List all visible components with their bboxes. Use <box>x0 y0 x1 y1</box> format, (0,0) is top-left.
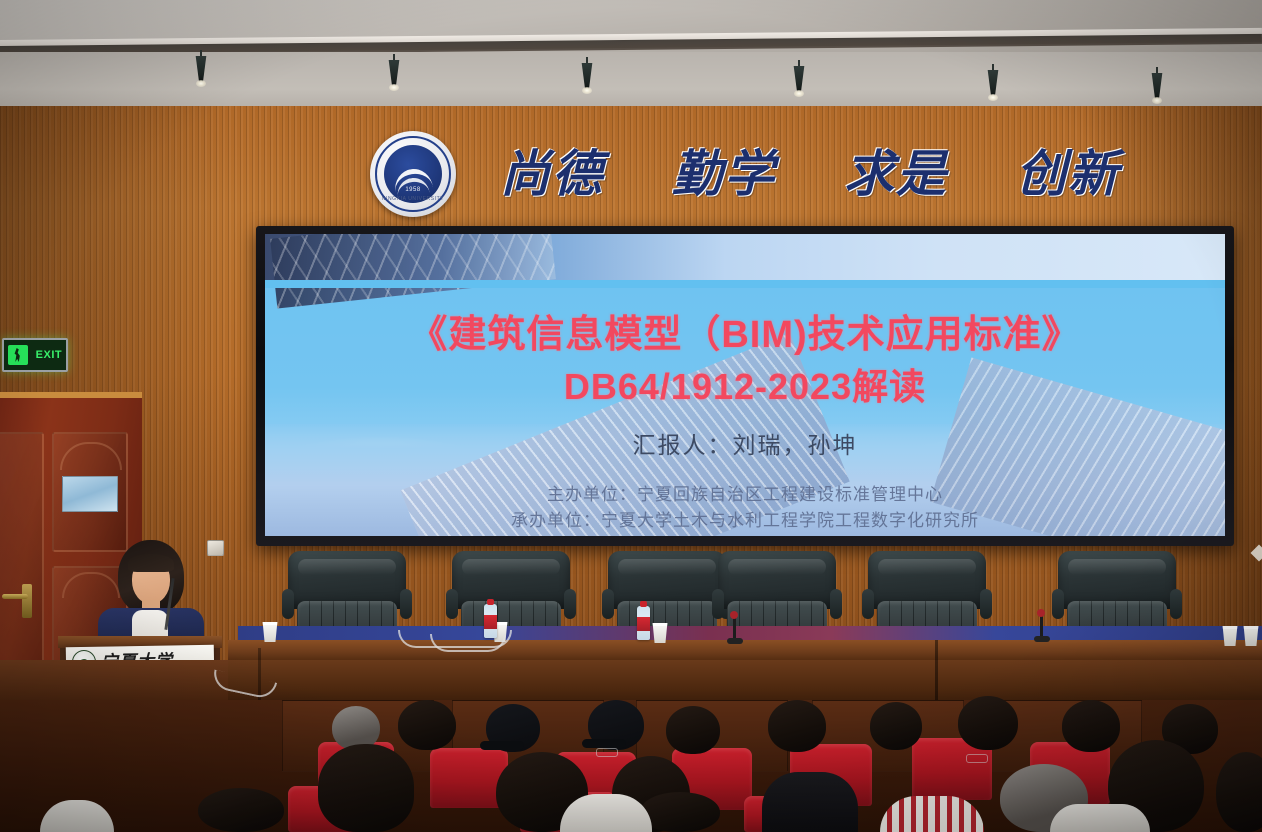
paper-cup <box>652 623 668 643</box>
audience-head <box>1062 700 1120 752</box>
track-light-icon <box>192 56 210 90</box>
audience-head <box>318 744 414 832</box>
audience-shoulders <box>880 796 984 832</box>
track-light-icon <box>385 60 403 94</box>
slide-steel-structure-graphic <box>265 234 1225 282</box>
running-person-icon <box>8 345 28 365</box>
audience-shoulders <box>1050 804 1150 832</box>
slide-organizer: 主办单位：宁夏回族自治区工程建设标准管理中心 <box>265 482 1225 508</box>
door-lock-plate <box>22 584 32 618</box>
exit-sign-label: EXIT <box>36 349 62 361</box>
door-handle[interactable] <box>2 594 28 599</box>
slide-presenter: 汇报人：刘瑞，孙坤 <box>265 426 1225 460</box>
upper-wall <box>0 52 1262 114</box>
door-window <box>62 476 118 512</box>
university-emblem: 1958 NINGXIA UNIVERSITY <box>370 131 456 217</box>
audience-shoulders <box>762 772 858 832</box>
audience-head <box>958 696 1018 750</box>
slide-co-organizer: 承办单位：宁夏大学土木与水利工程学院工程数字化研究所 <box>265 508 1225 534</box>
paper-cup <box>1243 626 1259 646</box>
paper-cup <box>1222 626 1238 646</box>
presentation-screen: 《建筑信息模型（BIM)技术应用标准》 DB64/1912-2023解读 汇报人… <box>265 234 1225 536</box>
slide-organizers: 主办单位：宁夏回族自治区工程建设标准管理中心 承办单位：宁夏大学土木与水利工程学… <box>265 482 1225 535</box>
audience-head <box>198 788 284 832</box>
audience-head <box>640 792 720 832</box>
university-motto: 尚德 勤学 求是 创新 <box>500 120 1120 220</box>
audience-head <box>666 706 720 754</box>
table-seam <box>935 640 938 708</box>
audience-head <box>768 700 826 752</box>
motto-word-1: 尚德 <box>500 134 604 206</box>
slide-accent-band <box>265 280 1225 288</box>
eyeglasses <box>966 754 988 763</box>
audience-head <box>870 702 922 750</box>
audience-head <box>398 700 456 750</box>
eyeglasses <box>596 748 618 757</box>
head-table-surface <box>228 640 1262 662</box>
motto-word-3: 求是 <box>844 134 948 206</box>
audience-head <box>588 700 644 750</box>
emergency-exit-sign: EXIT <box>2 338 68 372</box>
track-light-icon <box>1148 73 1166 107</box>
track-light-icon <box>790 66 808 100</box>
audience-head <box>486 704 540 752</box>
audience-head <box>1216 752 1262 832</box>
auditorium-scene: 1958 NINGXIA UNIVERSITY 尚德 勤学 求是 创新 《建筑信… <box>0 0 1262 832</box>
emblem-year: 1958 <box>370 187 456 193</box>
microphone-base <box>727 638 743 644</box>
slide-subtitle: DB64/1912-2023解读 <box>265 358 1225 410</box>
emblem-name-en: NINGXIA UNIVERSITY <box>370 196 456 202</box>
water-bottle <box>637 606 650 640</box>
paper-cup <box>262 622 278 642</box>
track-light-icon <box>578 63 596 97</box>
microphone-base <box>1034 636 1050 642</box>
motto-word-2: 勤学 <box>672 134 776 206</box>
track-light-icon <box>984 70 1002 104</box>
motto-word-4: 创新 <box>1016 134 1120 206</box>
cable <box>430 634 506 652</box>
slide-title: 《建筑信息模型（BIM)技术应用标准》 <box>265 314 1225 357</box>
